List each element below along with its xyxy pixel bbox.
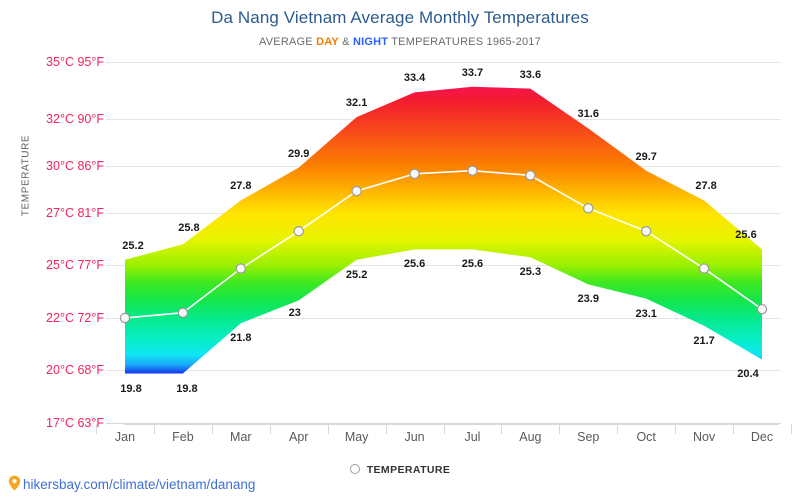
temperature-range-band xyxy=(125,87,762,374)
low-value-label: 25.6 xyxy=(404,258,425,270)
data-point-marker[interactable] xyxy=(410,169,419,178)
high-value-label: 27.8 xyxy=(695,180,716,192)
climate-chart: Da Nang Vietnam Average Monthly Temperat… xyxy=(0,0,800,500)
x-axis-tick-label: Aug xyxy=(500,430,560,444)
data-point-marker[interactable] xyxy=(236,264,245,273)
legend-label: TEMPERATURE xyxy=(367,464,451,476)
low-value-label: 21.8 xyxy=(230,332,251,344)
data-point-marker[interactable] xyxy=(120,313,129,322)
low-value-label: 19.8 xyxy=(176,383,197,395)
low-value-label: 21.7 xyxy=(693,335,714,347)
x-axis-tick-label: Mar xyxy=(211,430,271,444)
low-value-label: 25.3 xyxy=(520,266,541,278)
high-value-label: 32.1 xyxy=(346,97,367,109)
x-axis-tick-label: Nov xyxy=(674,430,734,444)
high-value-label: 31.6 xyxy=(578,108,599,120)
low-value-label: 25.2 xyxy=(346,269,367,281)
low-value-label: 19.8 xyxy=(120,383,141,395)
high-value-label: 29.7 xyxy=(635,151,656,163)
data-point-marker[interactable] xyxy=(178,308,187,317)
x-axis-tick-label: Dec xyxy=(732,430,792,444)
data-point-marker[interactable] xyxy=(468,166,477,175)
data-point-marker[interactable] xyxy=(757,305,766,314)
x-axis-tick-label: Jun xyxy=(385,430,445,444)
high-value-label: 27.8 xyxy=(230,180,251,192)
x-axis-tick-label: Sep xyxy=(558,430,618,444)
x-axis-tick-label: May xyxy=(327,430,387,444)
high-value-label: 25.6 xyxy=(735,229,756,241)
x-axis-tick xyxy=(791,424,792,434)
data-point-marker[interactable] xyxy=(526,171,535,180)
plot-area xyxy=(0,0,800,500)
source-link[interactable]: hikersbay.com/climate/vietnam/danang xyxy=(8,476,255,495)
data-point-marker[interactable] xyxy=(699,264,708,273)
chart-legend: TEMPERATURE xyxy=(0,464,800,476)
low-value-label: 20.4 xyxy=(737,368,758,380)
low-value-label: 23.1 xyxy=(635,308,656,320)
x-axis-tick-label: Apr xyxy=(269,430,329,444)
low-value-label: 23 xyxy=(289,307,301,319)
data-point-marker[interactable] xyxy=(584,204,593,213)
data-point-marker[interactable] xyxy=(352,186,361,195)
x-axis-line xyxy=(124,424,779,425)
low-value-label: 25.6 xyxy=(462,258,483,270)
location-pin-icon xyxy=(8,475,21,494)
high-value-label: 29.9 xyxy=(288,148,309,160)
high-value-label: 25.8 xyxy=(178,222,199,234)
source-link-text: hikersbay.com/climate/vietnam/danang xyxy=(23,477,255,492)
high-value-label: 25.2 xyxy=(122,240,143,252)
x-axis-tick-label: Jul xyxy=(442,430,502,444)
data-point-marker[interactable] xyxy=(294,227,303,236)
circle-marker-icon xyxy=(350,464,360,474)
low-value-label: 23.9 xyxy=(578,293,599,305)
high-value-label: 33.6 xyxy=(520,69,541,81)
data-point-marker[interactable] xyxy=(642,227,651,236)
x-axis-tick-label: Jan xyxy=(95,430,155,444)
high-value-label: 33.4 xyxy=(404,72,425,84)
x-axis-tick-label: Feb xyxy=(153,430,213,444)
x-axis-tick-label: Oct xyxy=(616,430,676,444)
high-value-label: 33.7 xyxy=(462,67,483,79)
